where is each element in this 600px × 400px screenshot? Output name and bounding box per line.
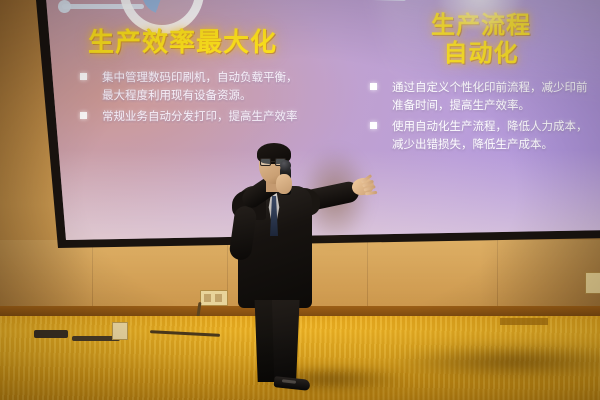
square-bullet-icon	[80, 112, 87, 119]
list-item: 通过自定义个性化印前流程，减少印前准备时间，提高生产效率。	[366, 78, 596, 114]
floor-equipment	[34, 330, 68, 338]
bullet-text: 使用自动化生产流程，降低人力成本，减少出错损失，降低生产成本。	[392, 119, 588, 151]
list-item: 使用自动化生产流程，降低人力成本，减少出错损失，降低生产成本。	[366, 117, 596, 153]
slide-right-title-line2: 自动化	[366, 40, 596, 68]
slide-right-bullets: 通过自定义个性化印前流程，减少印前准备时间，提高生产效率。 使用自动化生产流程，…	[366, 78, 596, 154]
bullet-text: 常规业务自动分发打印，提高生产效率	[102, 109, 298, 123]
floor-box	[112, 322, 128, 340]
stage-floor	[0, 316, 600, 400]
presentation-photo: 生产效率最大化 集中管理数码印刷机，自动负载平衡，最大程度利用现有设备资源。 常…	[0, 0, 600, 400]
bullet-text: 通过自定义个性化印前流程，减少印前准备时间，提高生产效率。	[392, 80, 588, 112]
square-bullet-icon	[370, 83, 377, 90]
slide-line-dot	[58, 0, 71, 13]
slide-left-title: 生产效率最大化	[88, 28, 306, 58]
bullet-text: 集中管理数码印刷机，自动负载平衡，最大程度利用现有设备资源。	[102, 70, 298, 102]
slide-left-column: 生产效率最大化 集中管理数码印刷机，自动负载平衡，最大程度利用现有设备资源。 常…	[76, 28, 306, 129]
floor-shadow	[250, 366, 410, 392]
floor-vent	[500, 318, 548, 325]
slide-connector-line	[196, 0, 406, 1]
slide-left-bullets: 集中管理数码印刷机，自动负载平衡，最大程度利用现有设备资源。 常规业务自动分发打…	[76, 68, 306, 125]
floor-shadow	[390, 344, 600, 378]
projection-screen: 生产效率最大化 集中管理数码印刷机，自动负载平衡，最大程度利用现有设备资源。 常…	[14, 0, 600, 255]
wall-power-outlet	[200, 290, 228, 306]
square-bullet-icon	[80, 73, 87, 80]
list-item: 常规业务自动分发打印，提高生产效率	[76, 107, 306, 125]
list-item: 集中管理数码印刷机，自动负载平衡，最大程度利用现有设备资源。	[76, 68, 306, 104]
wall-power-outlet	[585, 272, 600, 294]
square-bullet-icon	[370, 122, 377, 129]
slide-right-column: 生产流程 自动化 通过自定义个性化印前流程，减少印前准备时间，提高生产效率。 使…	[366, 12, 596, 156]
